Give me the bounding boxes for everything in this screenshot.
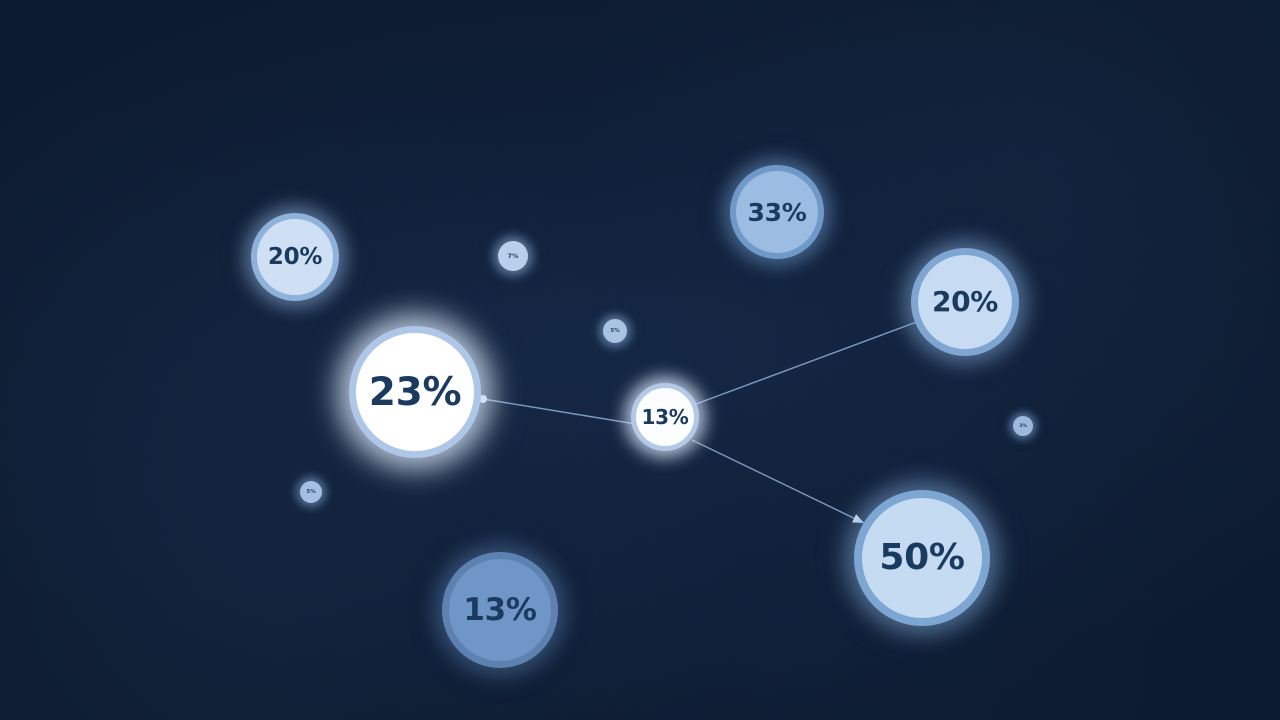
micro-bubble-label: 5% <box>610 328 619 334</box>
bubble-label: 20% <box>932 288 998 316</box>
micro-bubble-m-3[interactable]: 5% <box>300 481 322 503</box>
edge-layer <box>0 0 1280 720</box>
edge-n-13-center-to-n-20-right <box>696 320 922 404</box>
bubble-node-n-13-center[interactable]: 13% <box>631 383 699 451</box>
edge-n-13-center-to-n-50 <box>692 440 864 523</box>
bubble-node-n-13-bottom[interactable]: 13% <box>442 552 558 668</box>
edge-n-23-to-n-13-center <box>479 395 636 424</box>
bubble-label: 20% <box>268 246 322 269</box>
micro-bubble-label: 7% <box>508 253 519 259</box>
bubble-label: 13% <box>642 407 689 427</box>
micro-bubble-m-1[interactable]: 7% <box>498 241 528 271</box>
bubble-label: 33% <box>748 200 807 225</box>
micro-bubble-label: 3% <box>1019 424 1027 429</box>
edge-line <box>692 440 864 523</box>
bubble-node-n-50[interactable]: 50% <box>854 490 990 626</box>
bubble-label: 50% <box>879 540 964 576</box>
edge-line <box>483 399 636 424</box>
bubble-network-canvas: 23%13%20%20%33%50%13%7%5%5%3% <box>0 0 1280 720</box>
edge-line <box>696 320 922 404</box>
micro-bubble-m-2[interactable]: 5% <box>603 319 627 343</box>
bubble-label: 23% <box>369 373 461 412</box>
bubble-node-n-20-left[interactable]: 20% <box>251 213 339 301</box>
bubble-node-n-20-right[interactable]: 20% <box>911 248 1019 356</box>
micro-bubble-label: 5% <box>306 489 315 495</box>
bubble-node-n-23[interactable]: 23% <box>349 326 481 458</box>
bubble-label: 13% <box>463 595 536 626</box>
micro-bubble-m-4[interactable]: 3% <box>1013 416 1033 436</box>
bubble-node-n-33[interactable]: 33% <box>730 165 824 259</box>
